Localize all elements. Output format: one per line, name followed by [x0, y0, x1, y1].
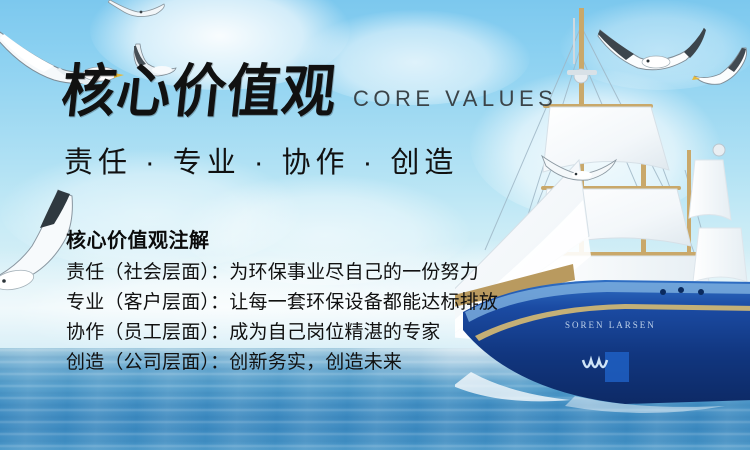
svg-text:SOREN LARSEN: SOREN LARSEN: [565, 320, 656, 330]
title-chinese: 核心价值观: [59, 62, 340, 119]
core-values-banner: SOREN LARSEN: [0, 0, 750, 450]
banner-title: 核心价值观 CORE VALUES: [62, 64, 557, 118]
list-item: 创造（公司层面）：创新务实，创造未来: [66, 348, 498, 378]
title-english: CORE VALUES: [353, 86, 557, 112]
seagull-icon: [596, 24, 706, 84]
seagull-icon: [108, 0, 168, 24]
seagull-icon: [692, 46, 750, 92]
list-item: 协作（员工层面）：成为自己岗位精湛的专家: [66, 318, 498, 348]
seagull-icon: [540, 150, 620, 186]
list-item: 专业（客户层面）：让每一套环保设备都能达标排放: [66, 288, 498, 318]
banner-subtitle: 责任 · 专业 · 协作 · 创造: [64, 139, 458, 181]
section-heading: 核心价值观注解: [66, 224, 210, 253]
value-detail-list: 责任（社会层面）：为环保事业尽自己的一份努力 专业（客户层面）：让每一套环保设备…: [66, 258, 498, 378]
list-item: 责任（社会层面）：为环保事业尽自己的一份努力: [66, 258, 498, 288]
